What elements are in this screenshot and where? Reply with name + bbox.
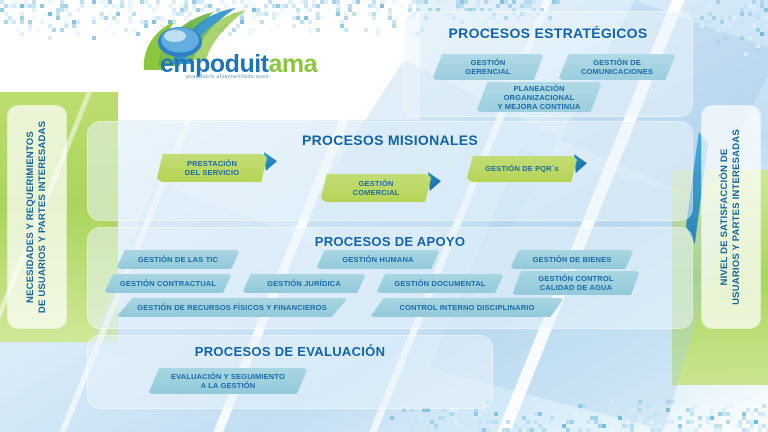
chip-planeacion-organizacional[interactable]: PLANEACIÓN ORGANIZACIONAL Y MEJORA CONTI… xyxy=(476,82,602,112)
chip-gestion-recursos-fisicos-financieros[interactable]: GESTIÓN DE RECURSOS FÍSICOS Y FINANCIERO… xyxy=(116,298,348,317)
right-side-panel-line1: NIVEL DE SATISFACCIÓN DE xyxy=(719,129,731,305)
chip-gestion-comunicaciones-line1: GESTIÓN DE xyxy=(587,58,647,67)
mosaic-pattern-right xyxy=(700,0,768,60)
chip-gestion-pqr[interactable]: GESTIÓN DE PQR´s xyxy=(466,156,578,182)
chip-evaluacion-y-seguimiento-line1: EVALUACIÓN Y SEGUIMIENTO xyxy=(165,372,291,381)
section-misionales: PROCESOS MISIONALES PRESTACIÓN DEL SERVI… xyxy=(88,122,692,220)
chip-gestion-control-calidad-de-agua-line2: CALIDAD DE AGUA xyxy=(534,283,618,292)
chip-planeacion-organizacional-line1: PLANEACIÓN xyxy=(507,84,570,93)
chip-prestacion-del-servicio-line1: PRESTACIÓN xyxy=(181,159,243,168)
chip-prestacion-del-servicio-line2: DEL SERVICIO xyxy=(179,168,245,177)
left-side-panel-text: NECESIDADES Y REQUERIMIENTOS DE USUARIOS… xyxy=(25,121,49,313)
section-evaluacion-title: PROCESOS DE EVALUACIÓN xyxy=(88,344,492,359)
logo-text-secondary: ama xyxy=(269,50,318,78)
chip-planeacion-organizacional-line2: ORGANIZACIONAL xyxy=(498,93,581,102)
chip-gestion-comercial-line1: GESTIÓN xyxy=(353,179,400,188)
chip-planeacion-organizacional-line3: Y MEJORA CONTINUA xyxy=(492,102,587,111)
chip-gestion-pqr-line1: GESTIÓN DE PQR´s xyxy=(479,164,565,173)
chip-gestion-gerencial[interactable]: GESTIÓN GERENCIAL xyxy=(432,54,544,80)
section-misionales-title: PROCESOS MISIONALES xyxy=(88,132,692,148)
chip-evaluacion-y-seguimiento[interactable]: EVALUACIÓN Y SEGUIMIENTO A LA GESTIÓN xyxy=(148,368,308,394)
chip-prestacion-del-servicio[interactable]: PRESTACIÓN DEL SERVICIO xyxy=(156,154,268,182)
left-side-panel: NECESIDADES Y REQUERIMIENTOS DE USUARIOS… xyxy=(8,106,66,328)
chip-gestion-gerencial-line2: GERENCIAL xyxy=(459,67,517,76)
chip-gestion-contractual[interactable]: GESTIÓN CONTRACTUAL xyxy=(104,274,232,293)
chip-evaluacion-y-seguimiento-line2: A LA GESTIÓN xyxy=(195,381,262,390)
chip-gestion-de-bienes[interactable]: GESTIÓN DE BIENES xyxy=(510,250,634,269)
left-side-panel-line1: NECESIDADES Y REQUERIMIENTOS xyxy=(25,121,37,313)
logo-tagline: acueducto alcantarillado aseo xyxy=(186,74,269,80)
chip-control-interno-disciplinario-label: CONTROL INTERNO DISCIPLINARIO xyxy=(393,303,540,313)
chip-gestion-comunicaciones-line2: COMUNICACIONES xyxy=(575,67,659,76)
right-side-panel: NIVEL DE SATISFACCIÓN DE USUARIOS Y PART… xyxy=(702,106,760,328)
chip-gestion-humana-label: GESTIÓN HUMANA xyxy=(336,255,419,265)
chip-gestion-documental-label: GESTIÓN DOCUMENTAL xyxy=(388,279,491,289)
chip-gestion-documental[interactable]: GESTIÓN DOCUMENTAL xyxy=(376,274,504,293)
chip-gestion-de-bienes-label: GESTIÓN DE BIENES xyxy=(527,255,618,265)
chip-gestion-humana[interactable]: GESTIÓN HUMANA xyxy=(316,250,440,269)
chip-gestion-de-las-tic-label: GESTIÓN DE LAS TIC xyxy=(132,255,224,265)
section-apoyo-title: PROCESOS DE APOYO xyxy=(88,234,692,249)
chip-gestion-comercial[interactable]: GESTIÓN COMERCIAL xyxy=(320,174,432,202)
chip-gestion-de-las-tic[interactable]: GESTIÓN DE LAS TIC xyxy=(116,250,240,269)
chip-gestion-comunicaciones[interactable]: GESTIÓN DE COMUNICACIONES xyxy=(558,54,676,80)
chip-control-interno-disciplinario[interactable]: CONTROL INTERNO DISCIPLINARIO xyxy=(370,298,564,317)
chip-gestion-juridica[interactable]: GESTIÓN JURÍDICA xyxy=(242,274,366,293)
section-estrategicos-title: PROCESOS ESTRATÉGICOS xyxy=(404,25,692,41)
section-apoyo: PROCESOS DE APOYO GESTIÓN DE LAS TIC GES… xyxy=(88,228,692,328)
chip-gestion-gerencial-line1: GESTIÓN xyxy=(465,58,512,67)
company-logo: empoduitama acueducto alcantarillado ase… xyxy=(128,6,318,86)
chip-gestion-recursos-fisicos-financieros-label: GESTIÓN DE RECURSOS FÍSICOS Y FINANCIERO… xyxy=(131,303,333,313)
chip-gestion-control-calidad-de-agua-line1: GESTIÓN CONTROL xyxy=(532,274,619,283)
section-evaluacion: PROCESOS DE EVALUACIÓN EVALUACIÓN Y SEGU… xyxy=(88,336,492,408)
chip-gestion-comercial-line2: COMERCIAL xyxy=(347,188,406,197)
right-side-panel-line2: USUARIOS Y PARTES INTERESADAS xyxy=(731,129,743,305)
left-side-panel-line2: DE USUARIOS Y PARTES INTERESADAS xyxy=(37,121,49,313)
chip-gestion-contractual-label: GESTIÓN CONTRACTUAL xyxy=(114,279,222,289)
right-side-panel-text: NIVEL DE SATISFACCIÓN DE USUARIOS Y PART… xyxy=(719,129,743,305)
chip-gestion-control-calidad-de-agua[interactable]: GESTIÓN CONTROL CALIDAD DE AGUA xyxy=(512,271,640,295)
process-map-diagram: empoduitama acueducto alcantarillado ase… xyxy=(0,0,768,432)
section-estrategicos: PROCESOS ESTRATÉGICOS GESTIÓN GERENCIAL … xyxy=(404,12,692,116)
chip-gestion-juridica-label: GESTIÓN JURÍDICA xyxy=(261,279,347,289)
